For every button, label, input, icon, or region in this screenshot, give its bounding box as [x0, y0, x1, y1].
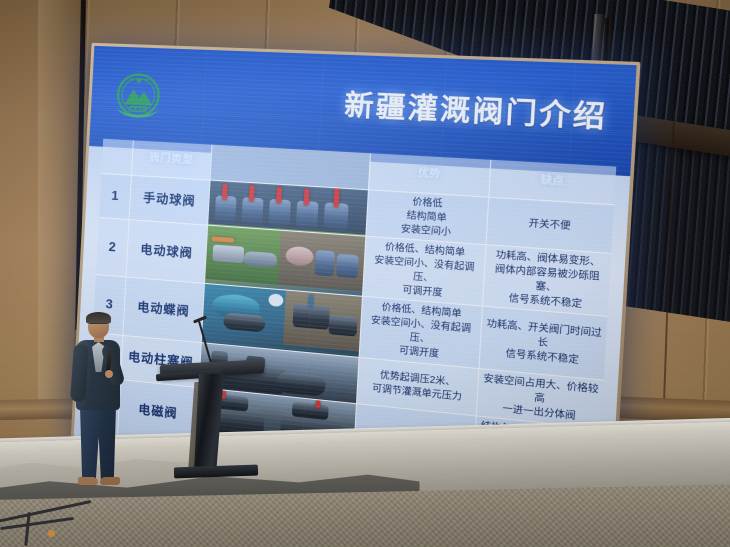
presenter-hand — [105, 370, 113, 378]
presenter-shoe-left — [78, 477, 98, 485]
row-valve-type: 电动蝶阀 — [122, 278, 203, 342]
foreground-equipment-stand — [0, 492, 116, 547]
stand-bar-1 — [0, 500, 91, 523]
header-number — [101, 139, 132, 175]
svg-text:XAAS: XAAS — [128, 106, 148, 114]
row-valve-type: 电动球阀 — [126, 220, 208, 283]
row-advantage: 价格低、结构简单 安装空间小、没有起调压、 可调开度 — [362, 237, 485, 306]
presenter-legs — [80, 406, 116, 480]
row-disadvantage: 功耗高、开关阀门时间过长 信号系统不稳定 — [478, 307, 607, 379]
row-disadvantage: 开关不便 — [485, 198, 614, 253]
lectern-stem — [194, 374, 224, 472]
row-number: 2 — [96, 218, 129, 277]
stand-post — [24, 512, 31, 546]
presenter — [66, 314, 132, 492]
lectern-base — [174, 465, 258, 479]
row-number: 1 — [99, 174, 131, 219]
stand-knob[interactable] — [48, 530, 55, 537]
header-disadvantage: 缺点 — [488, 160, 616, 204]
row-advantage: 价格低 结构简单 安装空间小 — [365, 190, 488, 244]
disadvantage-line: 开关不便 — [528, 217, 571, 234]
advantage-line: 安装空间小 — [400, 222, 451, 239]
header-advantage: 优势 — [368, 153, 490, 196]
lectern — [160, 352, 268, 484]
conference-hall-photo: XAAS 新疆灌溉阀门介绍 阀门类型 优势 缺点 — [0, 0, 730, 547]
row-advantage: 价格低、结构简单 安装空间小、没有起调压、 可调开度 — [359, 297, 482, 367]
row-disadvantage: 功耗高、阀体易变形、 阀体内部容易被沙砾阻塞、 信号系统不稳定 — [482, 245, 611, 316]
header-valve-type: 阀门类型 — [131, 140, 212, 179]
presenter-shoe-right — [100, 477, 120, 485]
row-valve-type: 手动球阀 — [129, 176, 210, 225]
presenter-glasses — [90, 323, 107, 328]
xaas-emblem-icon: XAAS — [106, 65, 171, 130]
